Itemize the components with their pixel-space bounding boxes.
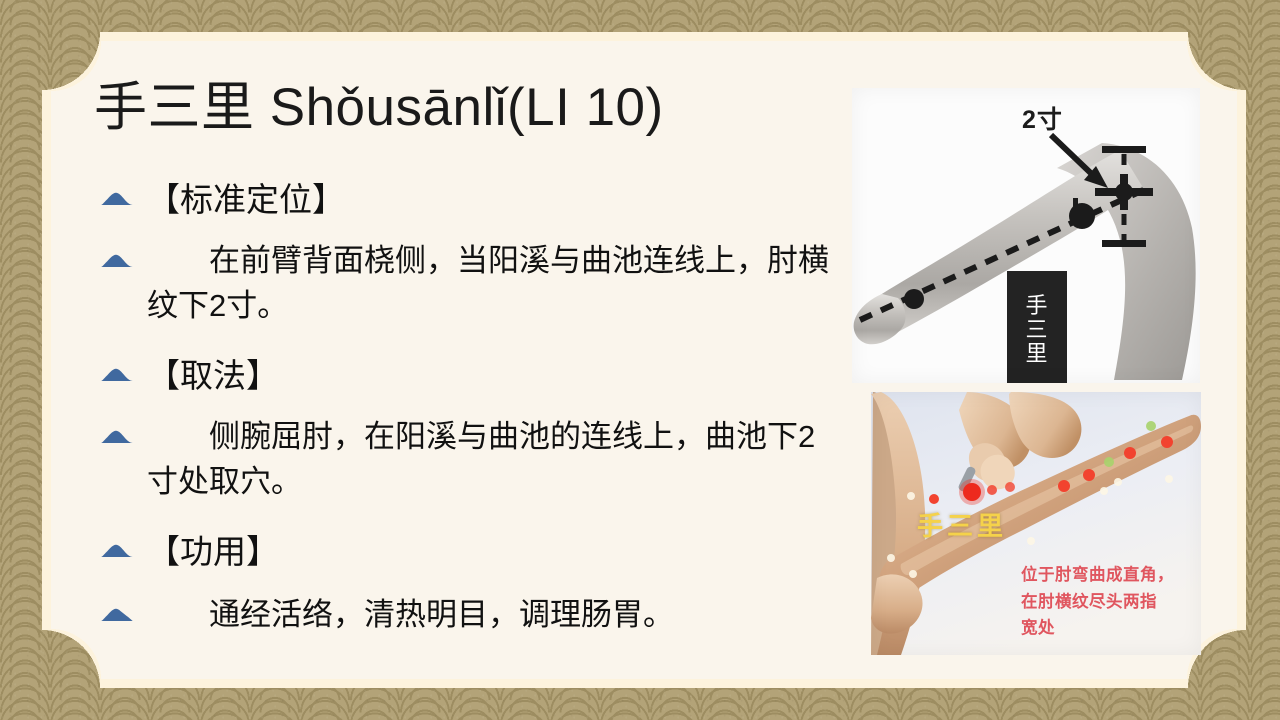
acupoint-name-tag-vertical: 手 三 里: [1007, 271, 1067, 383]
paragraph-text: 侧腕屈肘，在阳溪与曲池的连线上，曲池下2寸处取穴。: [147, 419, 815, 499]
section-heading-method: 【取法】: [100, 354, 830, 398]
cloud-bullet-icon: [100, 428, 134, 444]
tag-char-2: 三: [1025, 318, 1048, 342]
cloud-bullet-icon: [100, 366, 134, 382]
section-heading-standard-location: 【标准定位】: [100, 178, 830, 222]
cloud-bullet-icon: [100, 606, 134, 622]
tag-char-3: 里: [1025, 342, 1048, 366]
section-paragraph-standard-location: 在前臂背面桡侧，当阳溪与曲池连线上，肘横纹下2寸。: [100, 238, 830, 329]
slide: 手三里 Shǒusānlǐ(LI 10) 【标准定位】: [0, 0, 1280, 720]
tag-char-1: 手: [1025, 294, 1048, 318]
cloud-bullet-icon: [100, 542, 134, 558]
heading-text: 【标准定位】: [147, 181, 345, 218]
section-paragraph-method: 侧腕屈肘，在阳溪与曲池的连线上，曲池下2寸处取穴。: [100, 414, 830, 505]
image-acupoint-diagram-grayscale: 2寸 手 三 里: [852, 88, 1200, 383]
measurement-label-2cun: 2寸: [1022, 100, 1063, 136]
caption-line-2: 在肘横纹尽头两指: [1021, 589, 1181, 616]
cloud-bullet-icon: [100, 190, 134, 206]
body-content: 【标准定位】 在前臂背面桡侧，当阳溪与曲池连线上，肘横纹下2寸。: [100, 178, 830, 637]
image-acupoint-photo-color: 手三里 位于肘弯曲成直角， 在肘横纹尽头两指 宽处: [871, 392, 1201, 655]
paragraph-text: 通经活络，清热明目，调理肠胃。: [209, 597, 674, 632]
section-paragraph-function: 通经活络，清热明目，调理肠胃。: [100, 592, 830, 637]
page-title: 手三里 Shǒusānlǐ(LI 10): [94, 78, 664, 139]
photo-caption-overlay: 位于肘弯曲成直角， 在肘横纹尽头两指 宽处: [1021, 562, 1181, 642]
heading-text: 【取法】: [147, 357, 279, 394]
section-heading-function: 【功用】: [100, 530, 830, 574]
cloud-bullet-icon: [100, 252, 134, 268]
acupoint-label-overlay: 手三里: [917, 506, 1007, 543]
caption-line-1: 位于肘弯曲成直角，: [1021, 562, 1181, 589]
caption-line-3: 宽处: [1021, 615, 1181, 642]
heading-text: 【功用】: [147, 533, 279, 570]
paragraph-text: 在前臂背面桡侧，当阳溪与曲池连线上，肘横纹下2寸。: [147, 243, 829, 323]
